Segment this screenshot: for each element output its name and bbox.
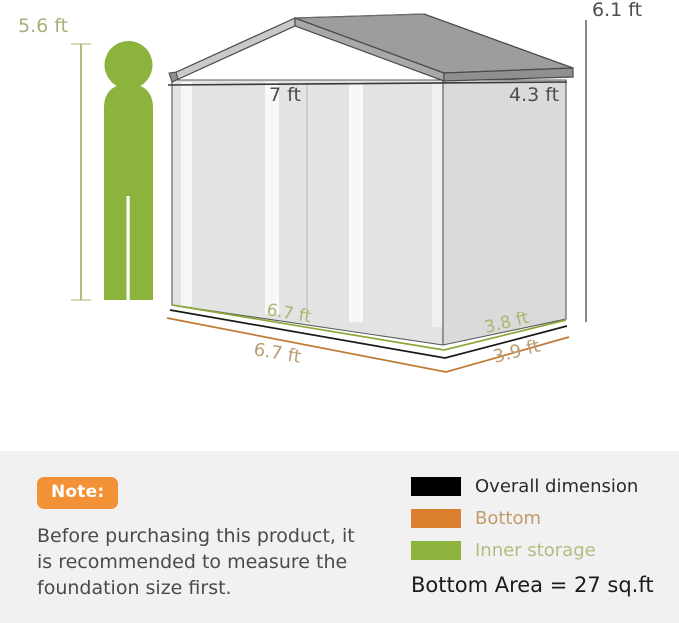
- human-figure-icon: [104, 41, 153, 300]
- note-block: Note: Before purchasing this product, it…: [37, 477, 367, 602]
- legend-swatch-inner-storage: [411, 541, 461, 560]
- note-text: Before purchasing this product, it is re…: [37, 523, 357, 602]
- dimension-label-person-height: 5.6 ft: [18, 15, 68, 37]
- legend-label-inner-storage: Inner storage: [475, 540, 596, 561]
- diagram-area: 5.6 ft: [0, 0, 679, 451]
- shed-front-wall: [172, 80, 443, 345]
- shed-roof: [169, 14, 573, 82]
- bottom-area-text: Bottom Area = 27 sq.ft: [411, 573, 671, 597]
- note-badge: Note:: [37, 477, 118, 509]
- dimension-peak-height: 6.1 ft: [586, 0, 642, 322]
- legend: Overall dimension Bottom Inner storage B…: [411, 471, 671, 597]
- dimension-label-peak-height: 6.1 ft: [592, 0, 642, 21]
- dimension-label-wall-height: 4.3 ft: [509, 84, 559, 106]
- shed-diagram: 5.6 ft: [0, 0, 679, 451]
- dimension-label-shed-width: 7 ft: [269, 84, 301, 106]
- dimension-label-bottom-depth: 3.9 ft: [491, 336, 542, 368]
- legend-item-inner-storage: Inner storage: [411, 535, 671, 565]
- dimension-shed-width: 7 ft: [269, 84, 301, 106]
- shed-side-wall: [443, 80, 566, 345]
- legend-label-overall-dimension: Overall dimension: [475, 476, 638, 497]
- legend-swatch-bottom: [411, 509, 461, 528]
- legend-item-overall-dimension: Overall dimension: [411, 471, 671, 501]
- info-panel: Note: Before purchasing this product, it…: [0, 451, 679, 623]
- legend-item-bottom: Bottom: [411, 503, 671, 533]
- legend-label-bottom: Bottom: [475, 508, 541, 529]
- dimension-infographic: 5.6 ft: [0, 0, 679, 623]
- dimension-person-height: 5.6 ft: [18, 15, 91, 300]
- legend-swatch-overall-dimension: [411, 477, 461, 496]
- dimension-wall-height: 4.3 ft: [509, 84, 559, 106]
